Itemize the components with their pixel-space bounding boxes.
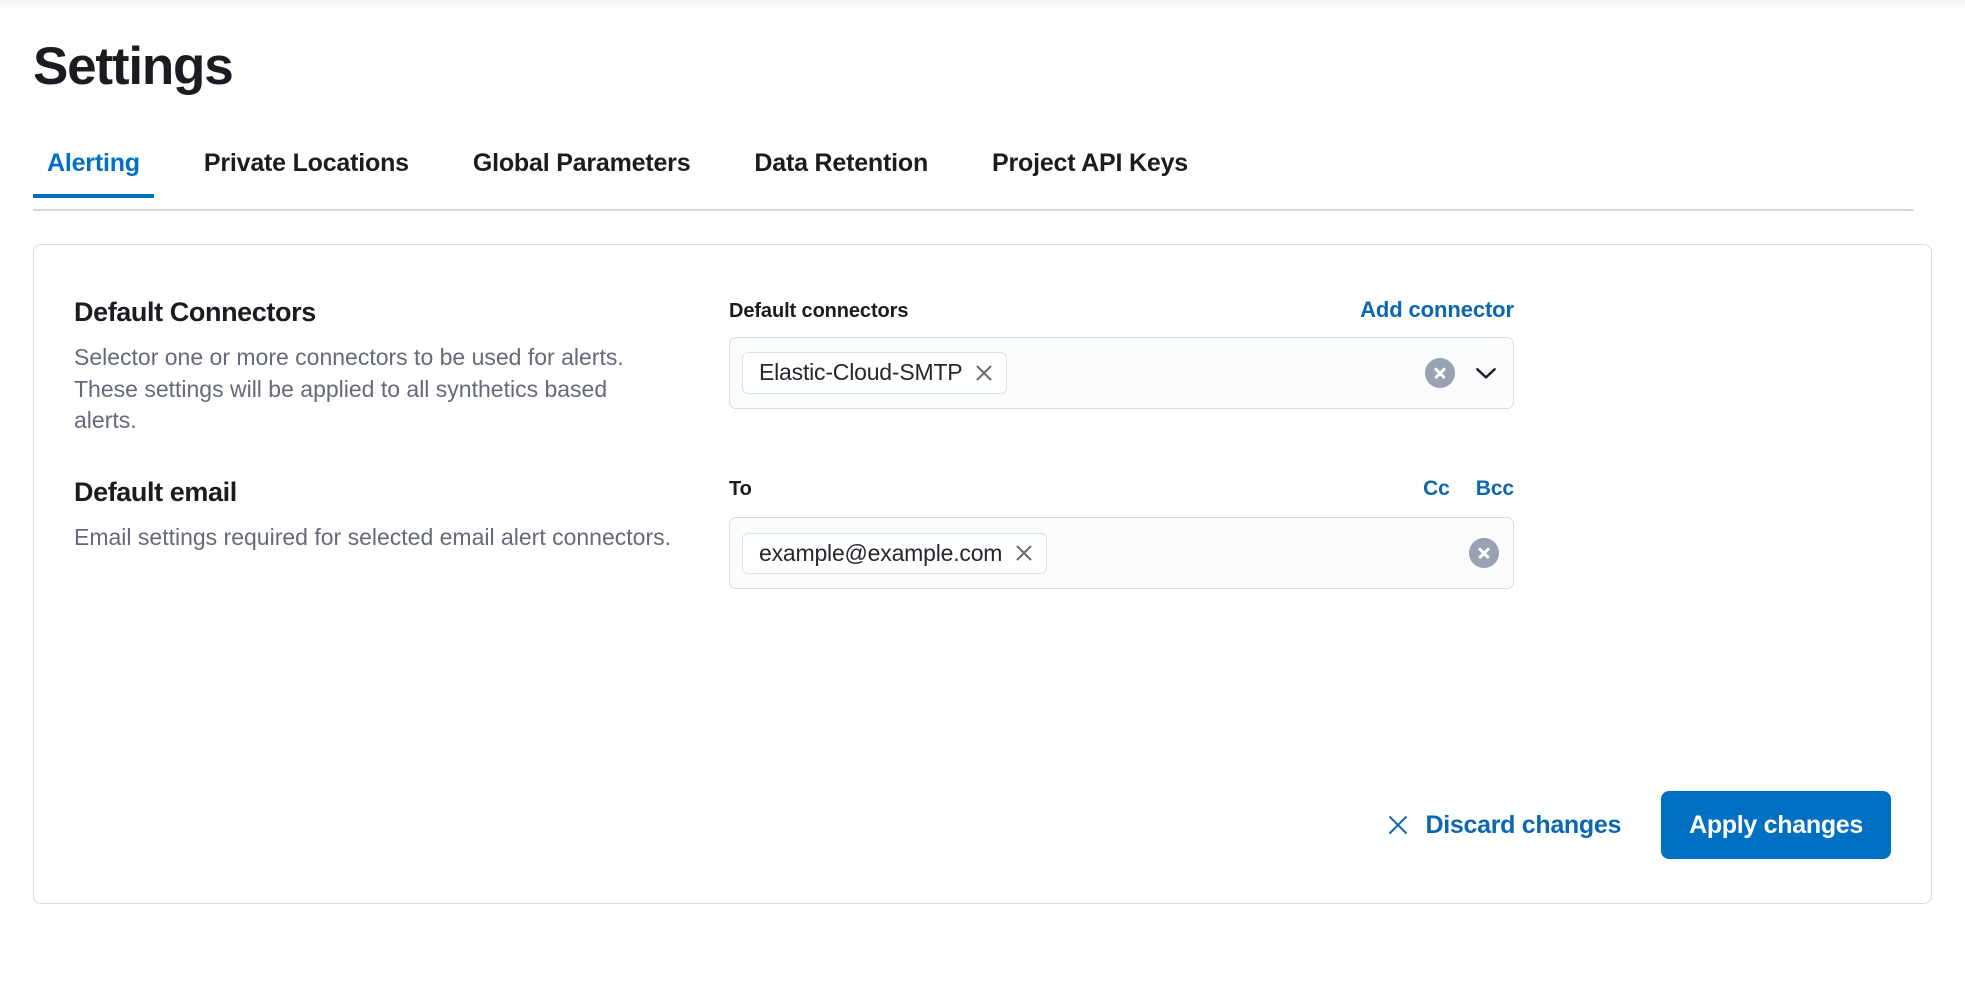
chip-label: example@example.com [759,541,1002,566]
email-chip[interactable]: example@example.com [742,533,1047,574]
tab-label: Alerting [47,149,140,177]
email-to-combobox[interactable]: example@example.com [729,517,1514,589]
tab-global-parameters[interactable]: Global Parameters [459,149,705,198]
settings-page: Settings Alerting Private Locations Glob… [0,0,1965,904]
chip-remove-icon[interactable] [974,363,994,383]
cc-link[interactable]: Cc [1423,477,1450,501]
tab-label: Global Parameters [473,149,691,177]
close-icon [1387,814,1409,836]
tab-label: Data Retention [754,149,928,177]
alerting-settings-card: Default Connectors Selector one or more … [33,244,1932,904]
section-title: Default Connectors [74,297,709,328]
section-description: Email settings required for selected ema… [74,522,674,554]
combobox-tools [1457,538,1499,568]
chip-remove-icon[interactable] [1014,543,1034,563]
discard-changes-label: Discard changes [1425,811,1621,840]
field-actions: Cc Bcc [1423,477,1514,501]
combobox-tools [1413,358,1499,388]
chip-label: Elastic-Cloud-SMTP [759,360,962,385]
default-connectors-field: Default connectors Add connector Elastic… [729,297,1514,409]
card-footer-actions: Discard changes Apply changes [1377,791,1891,859]
discard-changes-button[interactable]: Discard changes [1377,805,1631,846]
tab-data-retention[interactable]: Data Retention [740,149,942,198]
section-description: Selector one or more connectors to be us… [74,342,674,437]
selected-emails: example@example.com [742,533,1457,574]
tab-label: Private Locations [204,149,409,177]
clear-selection-icon[interactable] [1425,358,1455,388]
tab-project-api-keys[interactable]: Project API Keys [978,149,1202,198]
field-header: To Cc Bcc [729,477,1514,503]
clear-selection-icon[interactable] [1469,538,1499,568]
tab-alerting[interactable]: Alerting [33,149,154,198]
add-connector-link[interactable]: Add connector [1360,297,1514,323]
field-actions: Add connector [1360,297,1514,323]
connectors-combobox[interactable]: Elastic-Cloud-SMTP [729,337,1514,409]
apply-changes-button[interactable]: Apply changes [1661,791,1891,859]
section-description-block: Default email Email settings required fo… [74,477,729,554]
field-header: Default connectors Add connector [729,297,1514,323]
connector-chip[interactable]: Elastic-Cloud-SMTP [742,352,1007,393]
bcc-link[interactable]: Bcc [1476,477,1514,501]
field-label: To [729,478,752,501]
chevron-down-icon[interactable] [1473,360,1499,386]
selected-connectors: Elastic-Cloud-SMTP [742,352,1413,393]
section-default-connectors: Default Connectors Selector one or more … [74,297,1891,437]
section-title: Default email [74,477,709,508]
tab-private-locations[interactable]: Private Locations [190,149,423,198]
default-email-field: To Cc Bcc example@example.com [729,477,1514,589]
section-description-block: Default Connectors Selector one or more … [74,297,729,437]
tab-label: Project API Keys [992,149,1188,177]
section-default-email: Default email Email settings required fo… [74,477,1891,589]
page-title: Settings [33,0,1932,93]
settings-tabs: Alerting Private Locations Global Parame… [33,149,1932,211]
field-label: Default connectors [729,300,908,323]
